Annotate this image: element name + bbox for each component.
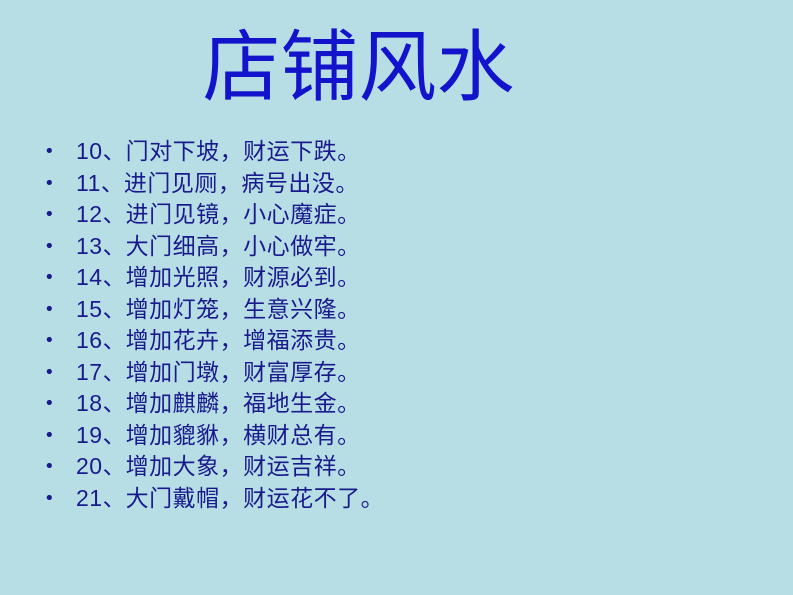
bullet-point-icon: •: [44, 388, 58, 420]
list-item-index: 12: [76, 201, 103, 227]
list-item-label: 增加光照，财源必到。: [126, 265, 361, 290]
list-item-label: 增加大象，财运吉祥。: [126, 454, 361, 479]
list-item-index: 20: [76, 453, 103, 479]
list-item-separator: 、: [103, 360, 126, 385]
list-item-separator: 、: [103, 328, 126, 353]
list-item-label: 进门见厕，病号出没。: [124, 171, 359, 196]
bullet-point-icon: •: [44, 483, 58, 515]
list-item-separator: 、: [103, 202, 126, 227]
list-item-separator: 、: [103, 265, 126, 290]
slide-canvas: 店铺风水 •10、门对下坡，财运下跌。•11、进门见厕，病号出没。•12、进门见…: [0, 0, 793, 595]
list-item-separator: 、: [101, 171, 124, 196]
bullet-point-icon: •: [44, 420, 58, 452]
bullet-point-icon: •: [44, 168, 58, 200]
list-item-separator: 、: [103, 391, 126, 416]
list-item-separator: 、: [103, 139, 126, 164]
bullet-point-icon: •: [44, 357, 58, 389]
list-item-separator: 、: [103, 454, 126, 479]
list-item: •13、大门细高，小心做牢。: [0, 231, 793, 263]
list-item-index: 10: [76, 138, 103, 164]
slide-body-block: •10、门对下坡，财运下跌。•11、进门见厕，病号出没。•12、进门见镜，小心魔…: [0, 136, 793, 514]
list-item-separator: 、: [103, 486, 126, 511]
bullet-point-icon: •: [44, 199, 58, 231]
bullet-point-icon: •: [44, 451, 58, 483]
list-item-index: 21: [76, 485, 103, 511]
slide-title-block: 店铺风水: [0, 20, 793, 116]
list-item: •21、大门戴帽，财运花不了。: [0, 483, 793, 515]
list-item: •11、进门见厕，病号出没。: [0, 168, 793, 200]
list-item: •14、增加光照，财源必到。: [0, 262, 793, 294]
list-item-index: 13: [76, 233, 103, 259]
list-item-index: 17: [76, 359, 103, 385]
list-item: •18、增加麒麟，福地生金。: [0, 388, 793, 420]
list-item-separator: 、: [103, 423, 126, 448]
bullet-point-icon: •: [44, 136, 58, 168]
list-item-label: 大门戴帽，财运花不了。: [126, 486, 385, 511]
list-item: •15、增加灯笼，生意兴隆。: [0, 294, 793, 326]
list-item-index: 11: [76, 170, 101, 196]
list-item-label: 大门细高，小心做牢。: [126, 234, 361, 259]
bullet-list: •10、门对下坡，财运下跌。•11、进门见厕，病号出没。•12、进门见镜，小心魔…: [0, 136, 793, 514]
bullet-point-icon: •: [44, 262, 58, 294]
list-item-separator: 、: [103, 234, 126, 259]
list-item-label: 增加花卉，增福添贵。: [126, 328, 361, 353]
list-item-label: 增加灯笼，生意兴隆。: [126, 297, 361, 322]
list-item-index: 18: [76, 390, 103, 416]
list-item-index: 14: [76, 264, 103, 290]
bullet-point-icon: •: [44, 231, 58, 263]
list-item-label: 增加门墩，财富厚存。: [126, 360, 361, 385]
list-item-separator: 、: [103, 297, 126, 322]
bullet-point-icon: •: [44, 294, 58, 326]
list-item-index: 16: [76, 327, 103, 353]
page-title: 店铺风水: [202, 20, 514, 116]
list-item: •16、增加花卉，增福添贵。: [0, 325, 793, 357]
list-item: •20、增加大象，财运吉祥。: [0, 451, 793, 483]
list-item: •12、进门见镜，小心魔症。: [0, 199, 793, 231]
list-item-label: 门对下坡，财运下跌。: [126, 139, 361, 164]
list-item-label: 增加麒麟，福地生金。: [126, 391, 361, 416]
list-item-label: 增加貔貅，横财总有。: [126, 423, 361, 448]
list-item: •19、增加貔貅，横财总有。: [0, 420, 793, 452]
list-item-index: 15: [76, 296, 103, 322]
list-item: •10、门对下坡，财运下跌。: [0, 136, 793, 168]
list-item: •17、增加门墩，财富厚存。: [0, 357, 793, 389]
bullet-point-icon: •: [44, 325, 58, 357]
list-item-index: 19: [76, 422, 103, 448]
list-item-label: 进门见镜，小心魔症。: [126, 202, 361, 227]
